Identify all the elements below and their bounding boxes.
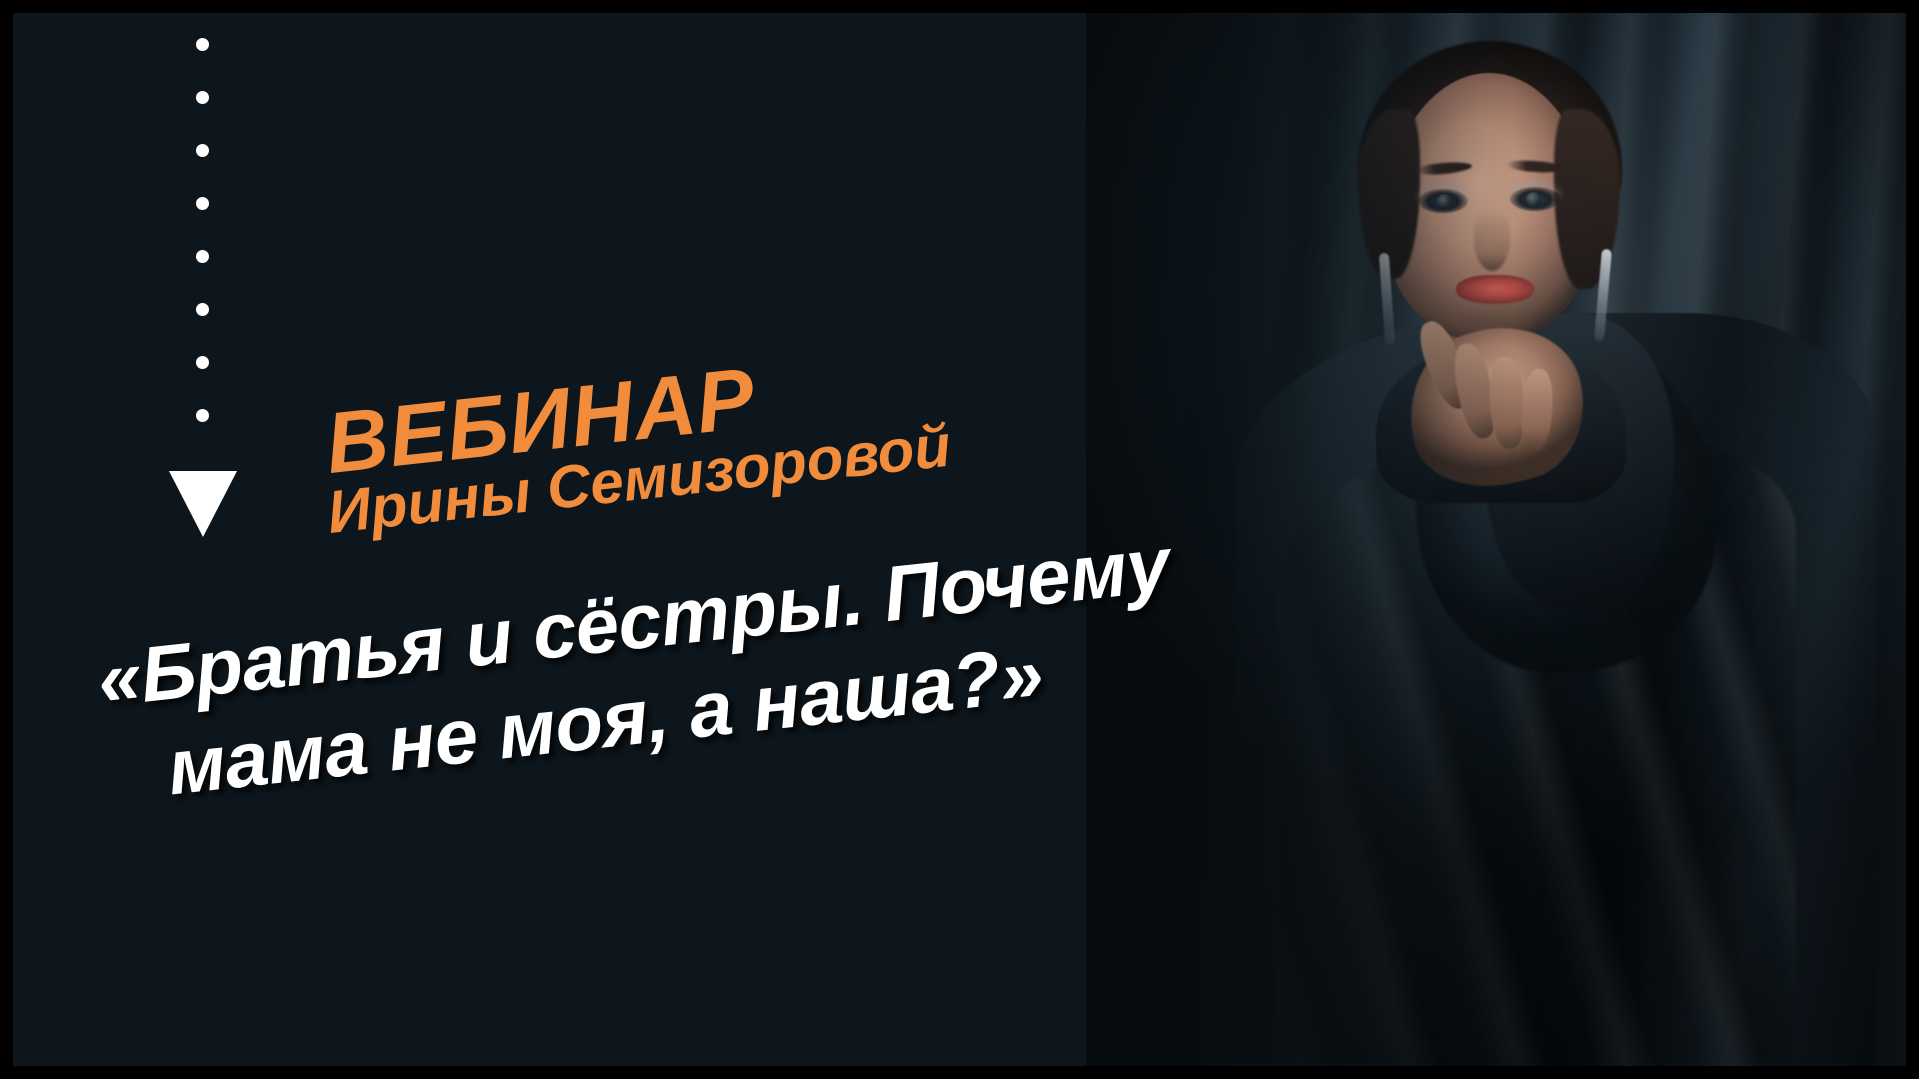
banner-canvas: ВЕБИНАР Ирины Семизоровой «Братья и сёст… — [13, 13, 1906, 1066]
title-block: ВЕБИНАР Ирины Семизоровой «Братья и сёст… — [13, 13, 1906, 1066]
webinar-title-quote: «Братья и сёстры. Почему мама не моя, а … — [93, 506, 1287, 823]
banner-root: ВЕБИНАР Ирины Семизоровой «Братья и сёст… — [0, 0, 1919, 1079]
